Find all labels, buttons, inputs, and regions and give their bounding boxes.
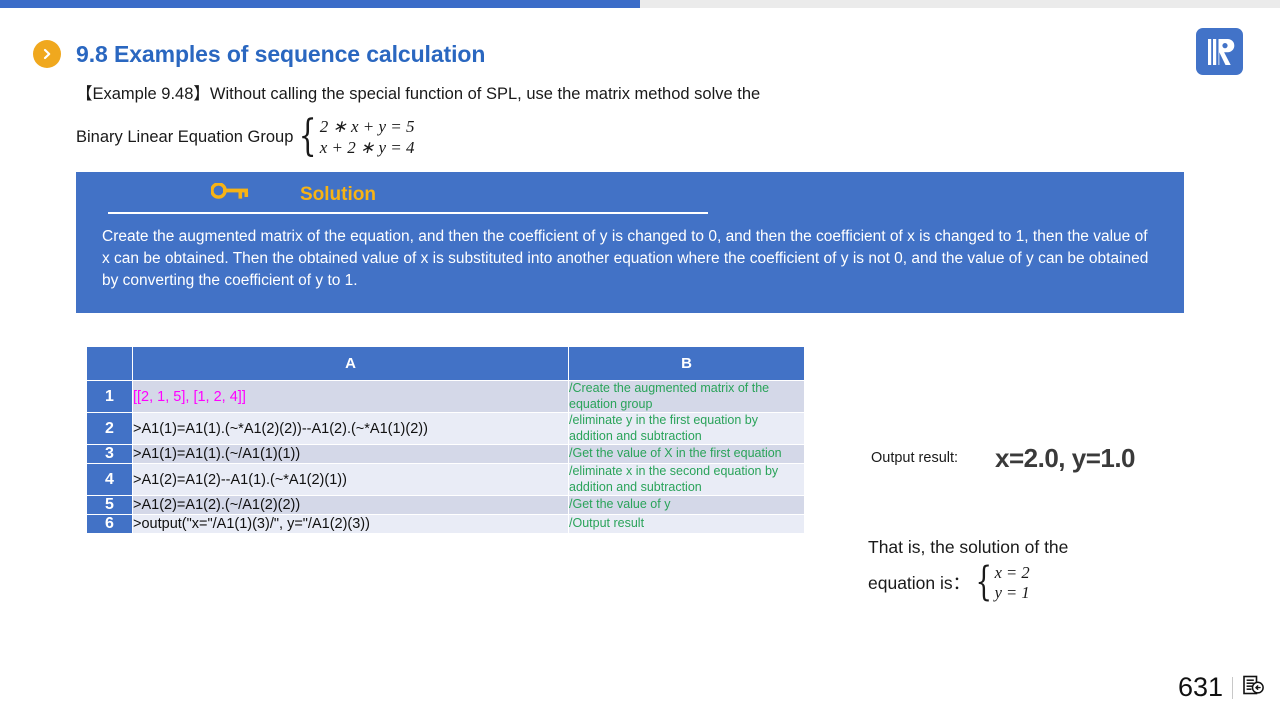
cell-b3[interactable]: /Get the value of X in the first equatio… <box>569 445 805 464</box>
solution-box: Solution Create the augmented matrix of … <box>76 172 1184 313</box>
slide-footer: 631 <box>1178 672 1265 703</box>
cell-a5[interactable]: >A1(2)=A1(2).(~/A1(2)(2)) <box>133 496 569 515</box>
cell-b4[interactable]: /eliminate x in the second equation by a… <box>569 464 805 496</box>
table-row: 2 >A1(1)=A1(1).(~*A1(2)(2))--A1(2).(~*A1… <box>87 413 805 445</box>
cell-a1[interactable]: [[2, 1, 5], [1, 2, 4]] <box>133 381 569 413</box>
page-title: 9.8 Examples of sequence calculation <box>76 41 485 68</box>
conclusion-block: That is, the solution of the equation is… <box>868 532 1198 603</box>
conclusion-prefix: equation is： <box>868 568 970 599</box>
cell-a4[interactable]: >A1(2)=A1(2)--A1(1).(~*A1(2)(1)) <box>133 464 569 496</box>
row-number: 1 <box>87 381 133 413</box>
table-row: 1 [[2, 1, 5], [1, 2, 4]] /Create the aug… <box>87 381 805 413</box>
page-title-row: 9.8 Examples of sequence calculation <box>33 40 485 68</box>
table-header-row: A B <box>87 347 805 381</box>
solution-label: Solution <box>300 184 376 206</box>
key-icon <box>211 183 251 207</box>
cell-b2[interactable]: /eliminate y in the first equation by ad… <box>569 413 805 445</box>
cell-a3[interactable]: >A1(1)=A1(1).(~/A1(1)(1)) <box>133 445 569 464</box>
table-row: 4 >A1(2)=A1(2)--A1(1).(~*A1(2)(1)) /elim… <box>87 464 805 496</box>
example-equation-2: x + 2 ∗ y = 4 <box>320 137 415 158</box>
slide-progress-fill <box>0 0 640 8</box>
column-header-b: B <box>569 347 805 381</box>
code-spreadsheet: A B 1 [[2, 1, 5], [1, 2, 4]] /Create the… <box>86 346 805 534</box>
example-equation-system: 2 ∗ x + y = 5 x + 2 ∗ y = 4 <box>320 116 415 158</box>
cell-b5[interactable]: /Get the value of y <box>569 496 805 515</box>
example-line-1: 【Example 9.48】Without calling the specia… <box>76 82 1076 106</box>
page-number: 631 <box>1178 672 1223 703</box>
example-equation-1: 2 ∗ x + y = 5 <box>320 116 415 137</box>
brand-r-logo <box>1196 28 1243 75</box>
example-line-2: Binary Linear Equation Group { 2 ∗ x + y… <box>76 116 1076 158</box>
row-number: 3 <box>87 445 133 464</box>
cell-a2[interactable]: >A1(1)=A1(1).(~*A1(2)(2))--A1(2).(~*A1(1… <box>133 413 569 445</box>
output-result-value: x=2.0, y=1.0 <box>995 443 1135 474</box>
output-result-label: Output result: <box>871 450 958 466</box>
row-number: 6 <box>87 515 133 534</box>
example-statement: 【Example 9.48】Without calling the specia… <box>76 82 1076 158</box>
table-row: 5 >A1(2)=A1(2).(~/A1(2)(2)) /Get the val… <box>87 496 805 515</box>
cell-b6[interactable]: /Output result <box>569 515 805 534</box>
example-equation-prefix: Binary Linear Equation Group <box>76 125 293 149</box>
solution-body-text: Create the augmented matrix of the equat… <box>102 226 1158 292</box>
slide-progress-bar <box>0 0 1280 8</box>
sheet-corner-cell <box>87 347 133 381</box>
solution-header: Solution <box>76 172 1184 207</box>
column-header-a: A <box>133 347 569 381</box>
conclusion-line-2: equation is： { x = 2 y = 1 <box>868 563 1198 603</box>
row-number: 2 <box>87 413 133 445</box>
solution-divider <box>108 212 708 214</box>
brace-icon: { <box>299 120 317 154</box>
row-number: 5 <box>87 496 133 515</box>
cell-b1[interactable]: /Create the augmented matrix of the equa… <box>569 381 805 413</box>
conclusion-equation-1: x = 2 <box>995 563 1030 583</box>
conclusion-equation-2: y = 1 <box>995 583 1030 603</box>
table-row: 6 >output("x="/A1(1)(3)/", y="/A1(2)(3))… <box>87 515 805 534</box>
cell-a6[interactable]: >output("x="/A1(1)(3)/", y="/A1(2)(3)) <box>133 515 569 534</box>
chevron-right-icon <box>33 40 61 68</box>
row-number: 4 <box>87 464 133 496</box>
table-row: 3 >A1(1)=A1(1).(~/A1(1)(1)) /Get the val… <box>87 445 805 464</box>
footer-divider <box>1232 677 1233 699</box>
conclusion-line-1: That is, the solution of the <box>868 532 1198 563</box>
brace-icon: { <box>976 567 993 598</box>
conclusion-equation-system: x = 2 y = 1 <box>995 563 1030 603</box>
document-return-icon[interactable] <box>1242 674 1265 702</box>
